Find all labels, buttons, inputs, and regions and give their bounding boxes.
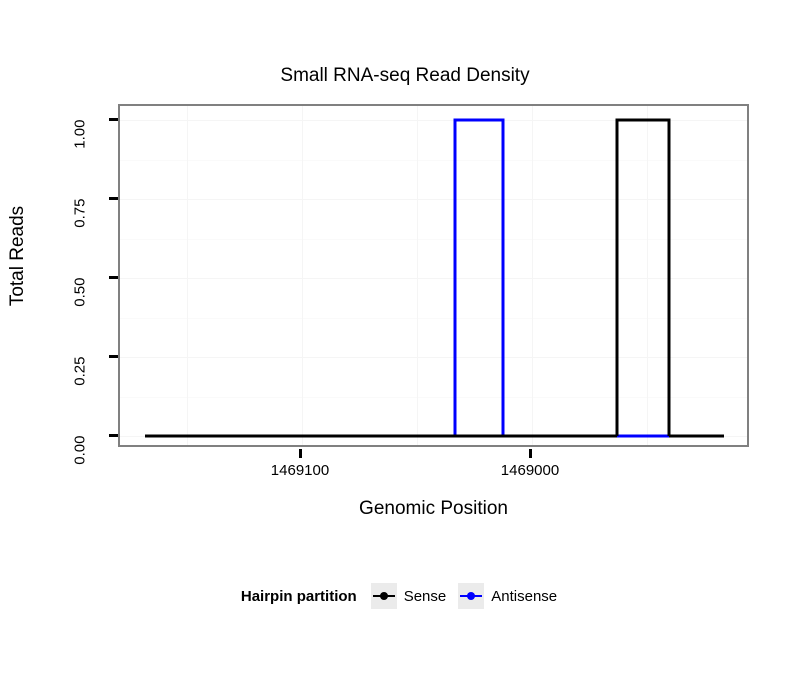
legend-label-antisense: Antisense bbox=[491, 588, 557, 605]
y-tick-label-000: 0.00 bbox=[72, 436, 89, 496]
legend-key-antisense-icon bbox=[458, 583, 484, 609]
y-tick-mark-025 bbox=[109, 355, 118, 358]
plot-panel bbox=[118, 104, 749, 447]
series-sense bbox=[120, 106, 751, 449]
y-tick-label-100: 1.00 bbox=[72, 120, 89, 180]
x-tick-label-1469000: 1469000 bbox=[501, 462, 559, 479]
chart-figure: Small RNA-seq Read Density Total Reads 1… bbox=[0, 0, 810, 690]
y-tick-mark-050 bbox=[109, 276, 118, 279]
legend-item-sense[interactable]: Sense bbox=[371, 583, 447, 609]
y-axis: 1.00 0.75 0.50 0.25 0.00 bbox=[0, 104, 105, 447]
x-tick-label-1469100: 1469100 bbox=[271, 462, 329, 479]
legend-title: Hairpin partition bbox=[241, 588, 357, 605]
x-tick-mark-1469000 bbox=[529, 449, 532, 458]
y-tick-label-075: 0.75 bbox=[72, 199, 89, 259]
y-tick-label-025: 0.25 bbox=[72, 357, 89, 417]
x-tick-mark-1469100 bbox=[299, 449, 302, 458]
y-tick-mark-075 bbox=[109, 197, 118, 200]
x-axis-title: Genomic Position bbox=[118, 498, 749, 520]
legend: Hairpin partition Sense Antisense bbox=[0, 583, 810, 609]
legend-key-sense-icon bbox=[371, 583, 397, 609]
plot-area bbox=[120, 106, 747, 445]
y-tick-mark-000 bbox=[109, 434, 118, 437]
y-tick-mark-100 bbox=[109, 118, 118, 121]
legend-label-sense: Sense bbox=[404, 588, 447, 605]
legend-item-antisense[interactable]: Antisense bbox=[458, 583, 557, 609]
y-tick-label-050: 0.50 bbox=[72, 278, 89, 338]
page-title: Small RNA-seq Read Density bbox=[0, 65, 810, 87]
